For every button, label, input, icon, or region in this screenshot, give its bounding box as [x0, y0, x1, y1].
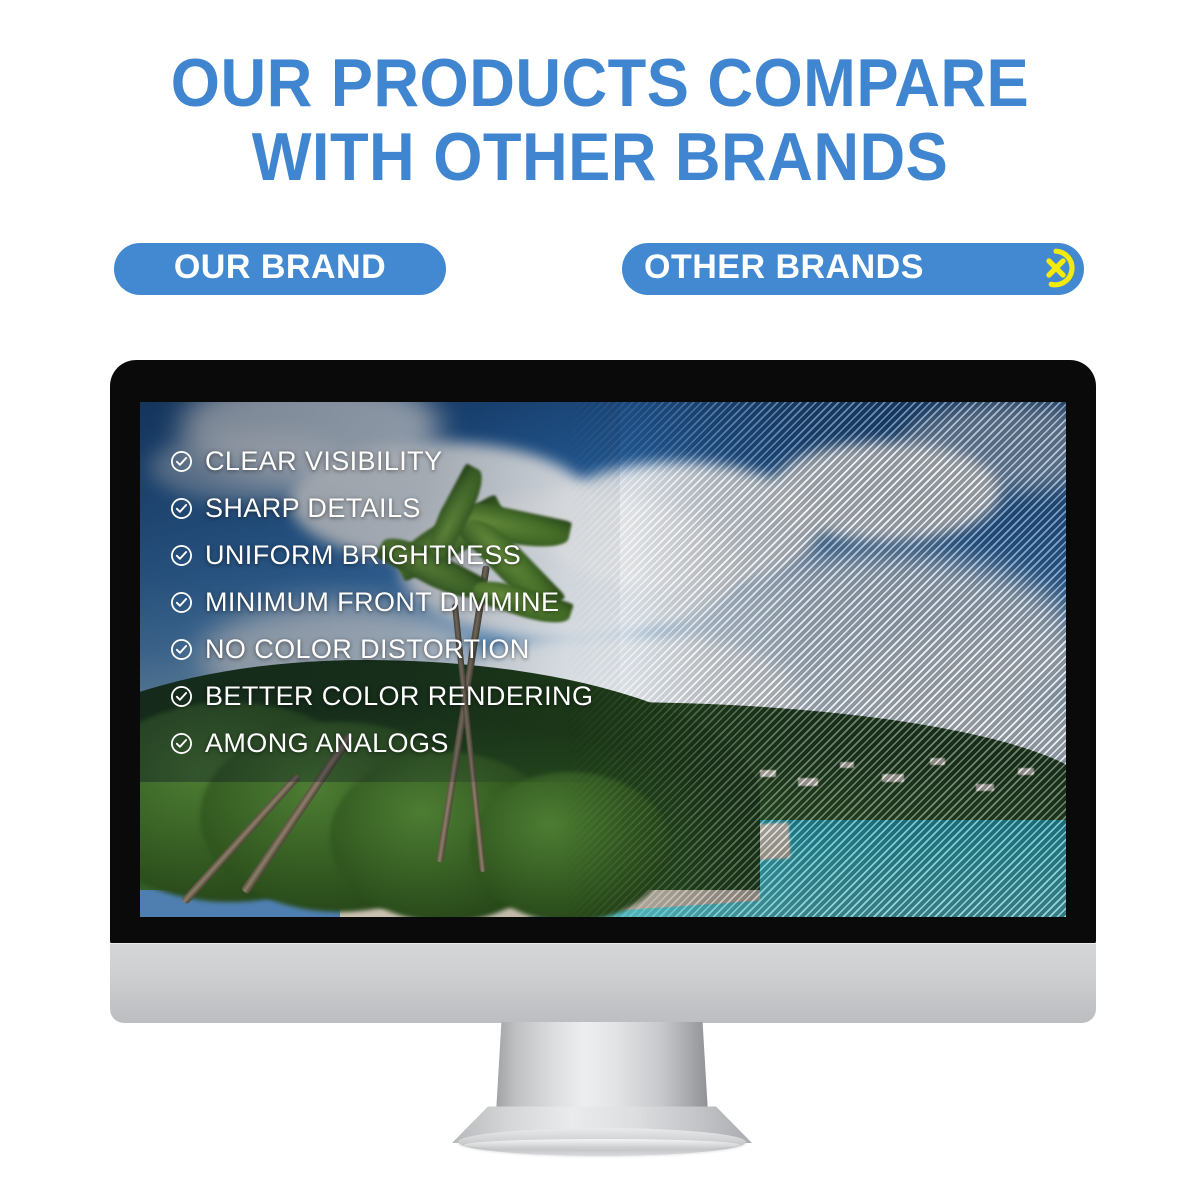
list-item-label: AMONG ANALOGS	[205, 728, 449, 759]
badge-our-brand[interactable]: OUR BRAND	[114, 243, 446, 295]
list-item-label: CLEAR VISIBILITY	[205, 446, 442, 477]
foliage	[470, 772, 670, 917]
list-item: UNIFORM BRIGHTNESS	[170, 532, 593, 579]
check-circle-icon	[170, 544, 193, 567]
list-item: SHARP DETAILS	[170, 485, 593, 532]
monitor-stand-base	[458, 1128, 746, 1156]
hillside-house	[798, 778, 818, 786]
hillside-house	[930, 758, 945, 765]
list-item-label: BETTER COLOR RENDERING	[205, 681, 593, 712]
page-title-line-2: WITH OTHER BRANDS	[42, 120, 1158, 194]
list-item: BETTER COLOR RENDERING	[170, 673, 593, 720]
badge-other-brands[interactable]: OTHER BRANDS	[622, 243, 1084, 295]
badge-other-brands-label: OTHER BRANDS	[644, 248, 1034, 287]
hillside-house	[1018, 768, 1034, 775]
circled-x-icon	[1034, 246, 1078, 290]
badge-our-brand-label: OUR BRAND	[174, 248, 386, 287]
hillside-house	[976, 784, 994, 791]
list-item: NO COLOR DISTORTION	[170, 626, 593, 673]
monitor-screen: CLEAR VISIBILITY SHARP DETAILS UNIFORM B…	[140, 402, 1066, 917]
hillside-house	[882, 774, 904, 782]
list-item-label: NO COLOR DISTORTION	[205, 634, 530, 665]
list-item: MINIMUM FRONT DIMMINE	[170, 579, 593, 626]
hillside-house	[760, 770, 776, 777]
list-item-label: MINIMUM FRONT DIMMINE	[205, 587, 559, 618]
check-circle-icon	[170, 732, 193, 755]
page-title-line-1: OUR PRODUCTS COMPARE	[171, 45, 1029, 121]
monitor-bezel: CLEAR VISIBILITY SHARP DETAILS UNIFORM B…	[110, 360, 1096, 945]
list-item-label: UNIFORM BRIGHTNESS	[205, 540, 521, 571]
hillside-house	[840, 762, 854, 768]
page-title: OUR PRODUCTS COMPARE WITH OTHER BRANDS	[42, 46, 1158, 194]
monitor-chin	[110, 943, 1096, 1023]
check-circle-icon	[170, 591, 193, 614]
list-item-label: SHARP DETAILS	[205, 493, 421, 524]
feature-list: CLEAR VISIBILITY SHARP DETAILS UNIFORM B…	[170, 438, 593, 767]
list-item: AMONG ANALOGS	[170, 720, 593, 767]
check-circle-icon	[170, 450, 193, 473]
list-item: CLEAR VISIBILITY	[170, 438, 593, 485]
check-circle-icon	[170, 638, 193, 661]
check-circle-icon	[170, 497, 193, 520]
check-circle-icon	[170, 685, 193, 708]
